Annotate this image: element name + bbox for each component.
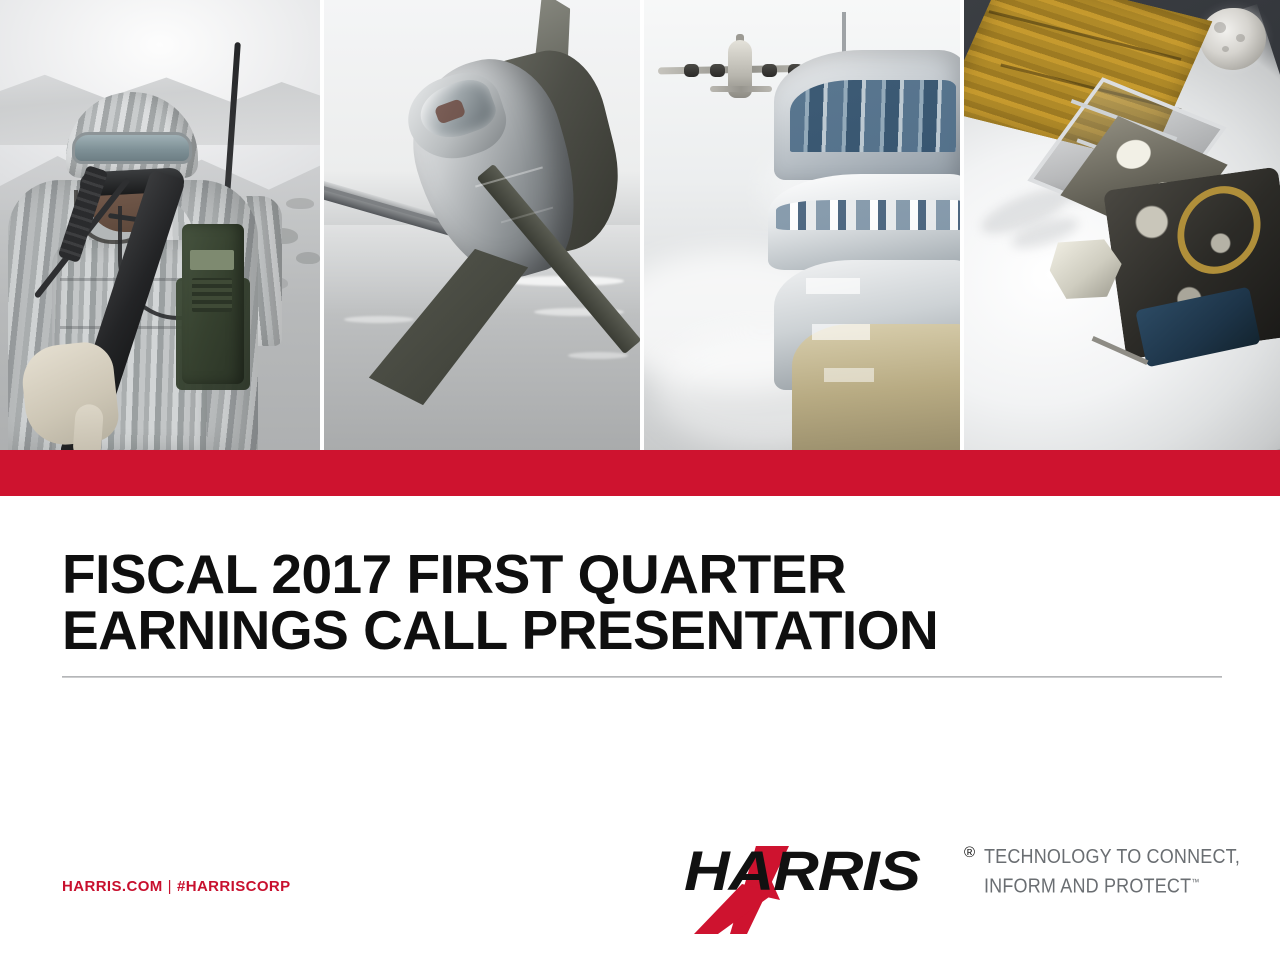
tagline-line-2-text: INFORM AND PROTECT bbox=[984, 876, 1191, 898]
jet-right-wing bbox=[357, 244, 542, 411]
radio-display bbox=[190, 250, 234, 270]
tactical-radio bbox=[182, 224, 244, 384]
air-traffic-control-tower bbox=[746, 24, 960, 450]
tagline-line-2: INFORM AND PROTECT™ bbox=[984, 870, 1200, 900]
brand-red-band bbox=[0, 450, 1280, 496]
harris-logo: HARRIS ® TECHNOLOGY TO CONNECT, INFORM A… bbox=[684, 838, 1224, 934]
hero-panel-soldier bbox=[0, 0, 320, 450]
page-title: FISCAL 2017 FIRST QUARTER EARNINGS CALL … bbox=[62, 546, 1222, 658]
tower-window-band bbox=[776, 200, 960, 230]
registered-trademark-mark: ® bbox=[964, 844, 975, 861]
moon-crater bbox=[1236, 34, 1245, 42]
hero-panel-airliner-tower bbox=[644, 0, 960, 450]
airliner-engine bbox=[684, 64, 699, 77]
footer-separator: | bbox=[163, 878, 177, 895]
tower-window bbox=[806, 278, 860, 294]
title-line-2: EARNINGS CALL PRESENTATION bbox=[62, 602, 1222, 658]
tower-window bbox=[812, 324, 870, 340]
hero-panel-fighter-jet bbox=[324, 0, 640, 450]
tower-base-section bbox=[792, 324, 960, 450]
soldier-figure bbox=[0, 50, 320, 450]
harris-wordmark: HARRIS bbox=[684, 843, 920, 899]
trademark-mark: ™ bbox=[1191, 877, 1199, 887]
hero-panel-satellite bbox=[964, 0, 1280, 450]
tower-cab-windows bbox=[790, 80, 956, 152]
fighter-jet bbox=[324, 0, 640, 450]
tower-window bbox=[824, 368, 874, 382]
radio-keypad bbox=[192, 278, 232, 312]
title-divider-rule bbox=[62, 676, 1222, 678]
footer-links: HARRIS.COM|#HARRISCORP bbox=[62, 878, 291, 895]
website-link[interactable]: HARRIS.COM bbox=[62, 878, 163, 895]
airliner-engine bbox=[710, 64, 725, 77]
moon-crater bbox=[1222, 46, 1229, 52]
soldier-goggles bbox=[72, 132, 192, 164]
hashtag-link[interactable]: #HARRISCORP bbox=[177, 878, 291, 895]
hero-image-strip bbox=[0, 0, 1280, 450]
moon bbox=[1200, 8, 1266, 70]
title-line-1: FISCAL 2017 FIRST QUARTER bbox=[62, 546, 1222, 602]
moon-crater bbox=[1214, 22, 1226, 33]
harris-tagline: TECHNOLOGY TO CONNECT, INFORM AND PROTEC… bbox=[984, 845, 1224, 900]
tagline-line-1: TECHNOLOGY TO CONNECT, bbox=[984, 845, 1200, 870]
